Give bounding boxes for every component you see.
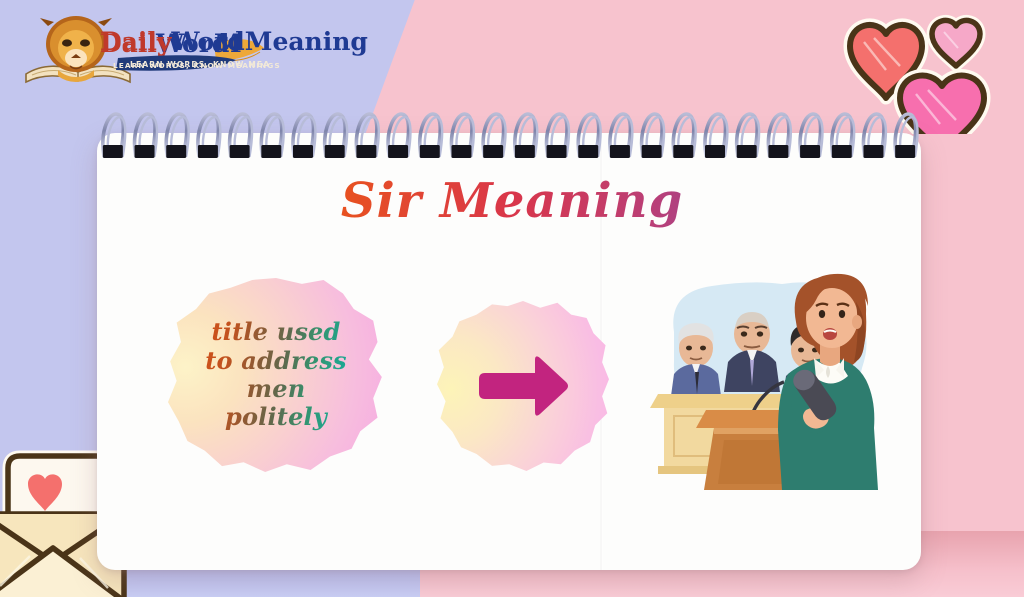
heart-small-top-icon [932,20,980,66]
woman-speaking-at-podium-illustration [648,262,880,490]
notebook-spiral-binding [97,112,921,158]
definition-line-3: men [205,375,347,403]
arrow-right-icon [473,351,573,421]
page-title: Sir Meaning [0,173,1024,229]
logo-word-word: Word [171,27,244,56]
screenshot-canvas: Daily Word M x LEARN WORDS, KNOW MEANING… [0,0,1024,597]
definition-text: title used to address men politely [205,318,347,431]
logo-word-daily: Daily [100,27,171,56]
arrow-blob [437,301,609,471]
logo-tagline-text: LEARN WORDS, KNOW MEANINGS [113,61,281,70]
definition-line-1: title used [205,318,347,346]
definition-line-4: politely [205,403,347,431]
definition-line-2: to address [205,347,347,375]
logo-word-meaning: Meaning [245,27,368,56]
definition-blob: title used to address men politely [168,278,384,472]
logo-wordmark: DailyWordMeaning [100,29,368,54]
